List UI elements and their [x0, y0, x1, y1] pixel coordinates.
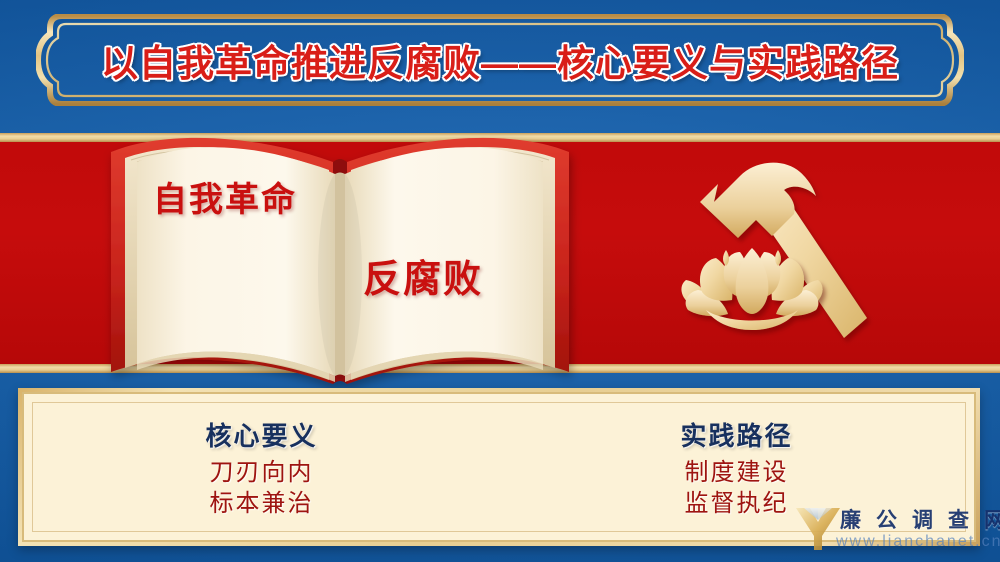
column-line: 监督执纪 [685, 490, 789, 518]
book-left-page-text: 自我革命 [153, 172, 297, 221]
slide-canvas: 以自我革命推进反腐败——核心要义与实践路径 [0, 0, 1000, 562]
hammer-lotus-emblem [660, 158, 920, 358]
page-title: 以自我革命推进反腐败——核心要义与实践路径 [36, 14, 964, 106]
summary-column-path: 实践路径 制度建设 监督执纪 [499, 394, 974, 540]
open-book-graphic [95, 100, 585, 400]
summary-panel-inner: 核心要义 刀刃向内 标本兼治 实践路径 制度建设 监督执纪 [22, 392, 976, 542]
open-book-illustration: 自我革命 反腐败 [95, 100, 585, 400]
book-right-page-text: 反腐败 [363, 248, 483, 303]
column-heading: 实践路径 [680, 416, 792, 453]
column-line: 标本兼治 [210, 490, 314, 518]
emblem-graphic [660, 158, 920, 358]
summary-column-core: 核心要义 刀刃向内 标本兼治 [24, 394, 499, 540]
column-line: 刀刃向内 [210, 459, 314, 487]
column-line: 制度建设 [685, 459, 789, 487]
watermark-char: 网 [984, 504, 1000, 534]
summary-panel: 核心要义 刀刃向内 标本兼治 实践路径 制度建设 监督执纪 [18, 388, 980, 546]
column-heading: 核心要义 [205, 416, 317, 453]
title-frame: 以自我革命推进反腐败——核心要义与实践路径 [36, 14, 964, 106]
